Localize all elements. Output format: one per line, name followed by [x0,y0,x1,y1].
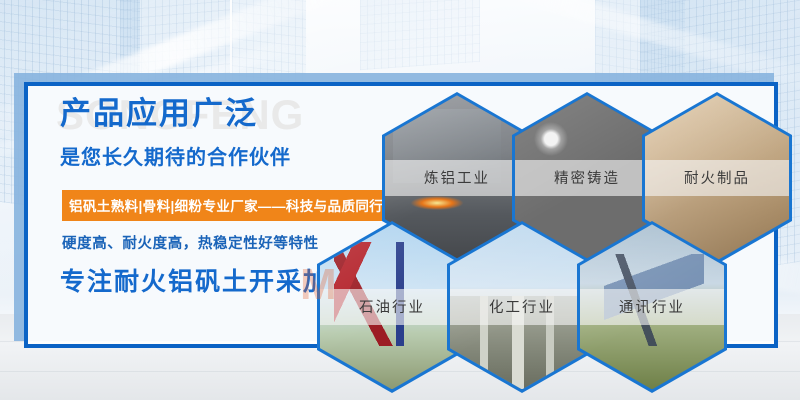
feature-line: 硬度高、耐火度高，热稳定性好等特性 [62,232,319,253]
copy-block: SONGFENG 产品应用广泛 是您长久期待的合作伙伴 [60,96,390,170]
hexagon-label: 通讯行业 [580,289,724,325]
tagline-bar: 铝矾土熟料|骨料|细粉专业厂家——科技与品质同行 [62,190,390,221]
hexagon-label: 炼铝工业 [385,160,529,196]
hexagon-label: 化工行业 [450,289,594,325]
subheadline: 是您长久期待的合作伙伴 [60,141,390,170]
banner-stage: SONGFENG 产品应用广泛 是您长久期待的合作伙伴 铝矾土熟料|骨料|细粉专… [0,0,800,400]
hexagon-label: 精密铸造 [515,160,659,196]
headline: 产品应用广泛 [60,96,390,132]
focus-line: 专注耐火铝矾土开采加工 [60,262,357,298]
hexagon-label: 耐火制品 [645,160,789,196]
background-building [360,0,480,70]
hexagon-label: 石油行业 [320,289,464,325]
